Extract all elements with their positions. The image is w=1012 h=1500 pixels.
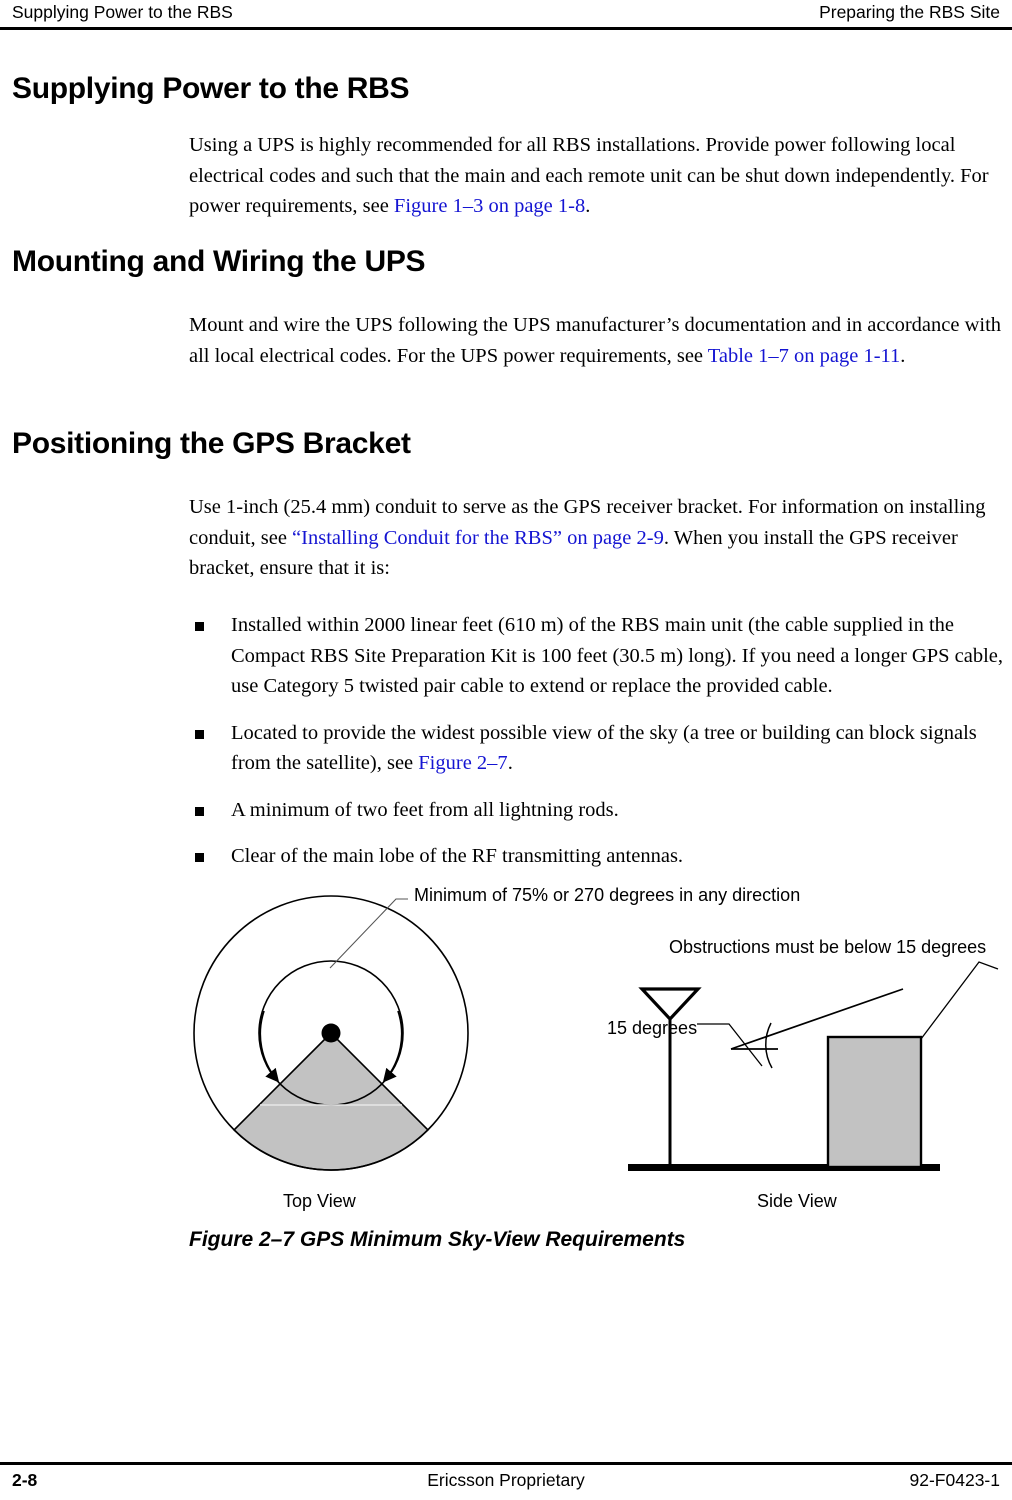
top-view-diagram bbox=[194, 896, 468, 1170]
page-footer: 2-8 Ericsson Proprietary 92-F0423-1 bbox=[0, 1468, 1012, 1498]
paragraph-text-tail: . bbox=[585, 195, 590, 217]
list-item: Installed within 2000 linear feet (610 m… bbox=[189, 610, 1012, 702]
bullet-square-icon bbox=[195, 807, 204, 816]
link-installing-conduit[interactable]: “Installing Conduit for the RBS” on page… bbox=[292, 527, 664, 549]
gps-bracket-requirements-list: Installed within 2000 linear feet (610 m… bbox=[189, 610, 1012, 888]
list-item: A minimum of two feet from all lightning… bbox=[189, 795, 1012, 826]
annotation-minimum-sky-view: Minimum of 75% or 270 degrees in any dir… bbox=[414, 885, 800, 906]
footer-center-text: Ericsson Proprietary bbox=[0, 1470, 1012, 1491]
paragraph-mounting-wiring: Mount and wire the UPS following the UPS… bbox=[189, 310, 1011, 371]
footer-doc-number: 92-F0423-1 bbox=[910, 1470, 1000, 1491]
link-figure-1-3[interactable]: Figure 1–3 on page 1-8 bbox=[394, 195, 585, 217]
list-item: Located to provide the widest possible v… bbox=[189, 718, 1012, 779]
figure-caption: Figure 2–7 GPS Minimum Sky-View Requirem… bbox=[189, 1228, 685, 1252]
annotation-15-degrees: 15 degrees bbox=[607, 1018, 697, 1039]
gps-antenna-icon bbox=[642, 989, 698, 1019]
figure-gps-sky-view bbox=[0, 872, 1012, 1217]
bullet-square-icon bbox=[195, 853, 204, 862]
heading-supplying-power: Supplying Power to the RBS bbox=[12, 72, 409, 106]
gps-receiver-dot bbox=[322, 1024, 341, 1043]
list-item-text-tail: . bbox=[508, 752, 513, 774]
paragraph-supplying-power: Using a UPS is highly recommended for al… bbox=[189, 130, 1011, 222]
list-item-text: Clear of the main lobe of the RF transmi… bbox=[231, 845, 683, 867]
list-item-text: Installed within 2000 linear feet (610 m… bbox=[231, 614, 1003, 697]
heading-mounting-wiring-ups: Mounting and Wiring the UPS bbox=[12, 245, 425, 279]
link-figure-2-7[interactable]: Figure 2–7 bbox=[418, 752, 507, 774]
label-side-view: Side View bbox=[757, 1191, 837, 1212]
running-header: Supplying Power to the RBS Preparing the… bbox=[0, 0, 1012, 28]
label-top-view: Top View bbox=[283, 1191, 356, 1212]
heading-positioning-gps-bracket: Positioning the GPS Bracket bbox=[12, 427, 411, 461]
bullet-square-icon bbox=[195, 730, 204, 739]
figure-graphic bbox=[0, 872, 1012, 1217]
leader-line-obstructions bbox=[921, 962, 998, 1039]
running-header-right: Preparing the RBS Site bbox=[819, 2, 1000, 23]
annotation-obstructions: Obstructions must be below 15 degrees bbox=[669, 937, 986, 958]
footer-rule bbox=[0, 1462, 1012, 1465]
obstruction-building bbox=[828, 1037, 921, 1167]
paragraph-text-tail: . bbox=[900, 345, 905, 367]
list-item-text: A minimum of two feet from all lightning… bbox=[231, 799, 619, 821]
list-item: Clear of the main lobe of the RF transmi… bbox=[189, 841, 1012, 872]
angle-arc bbox=[766, 1023, 772, 1068]
header-rule bbox=[0, 27, 1012, 30]
bullet-square-icon bbox=[195, 622, 204, 631]
side-view-diagram bbox=[628, 962, 998, 1171]
link-table-1-7[interactable]: Table 1–7 on page 1-11 bbox=[708, 345, 901, 367]
leader-line-minimum bbox=[330, 899, 408, 968]
document-page: Supplying Power to the RBS Preparing the… bbox=[0, 0, 1012, 1500]
leader-line-15-degrees bbox=[697, 1024, 762, 1066]
paragraph-positioning-gps: Use 1-inch (25.4 mm) conduit to serve as… bbox=[189, 492, 1011, 584]
list-item-text: Located to provide the widest possible v… bbox=[231, 722, 977, 775]
running-header-left: Supplying Power to the RBS bbox=[12, 2, 233, 23]
